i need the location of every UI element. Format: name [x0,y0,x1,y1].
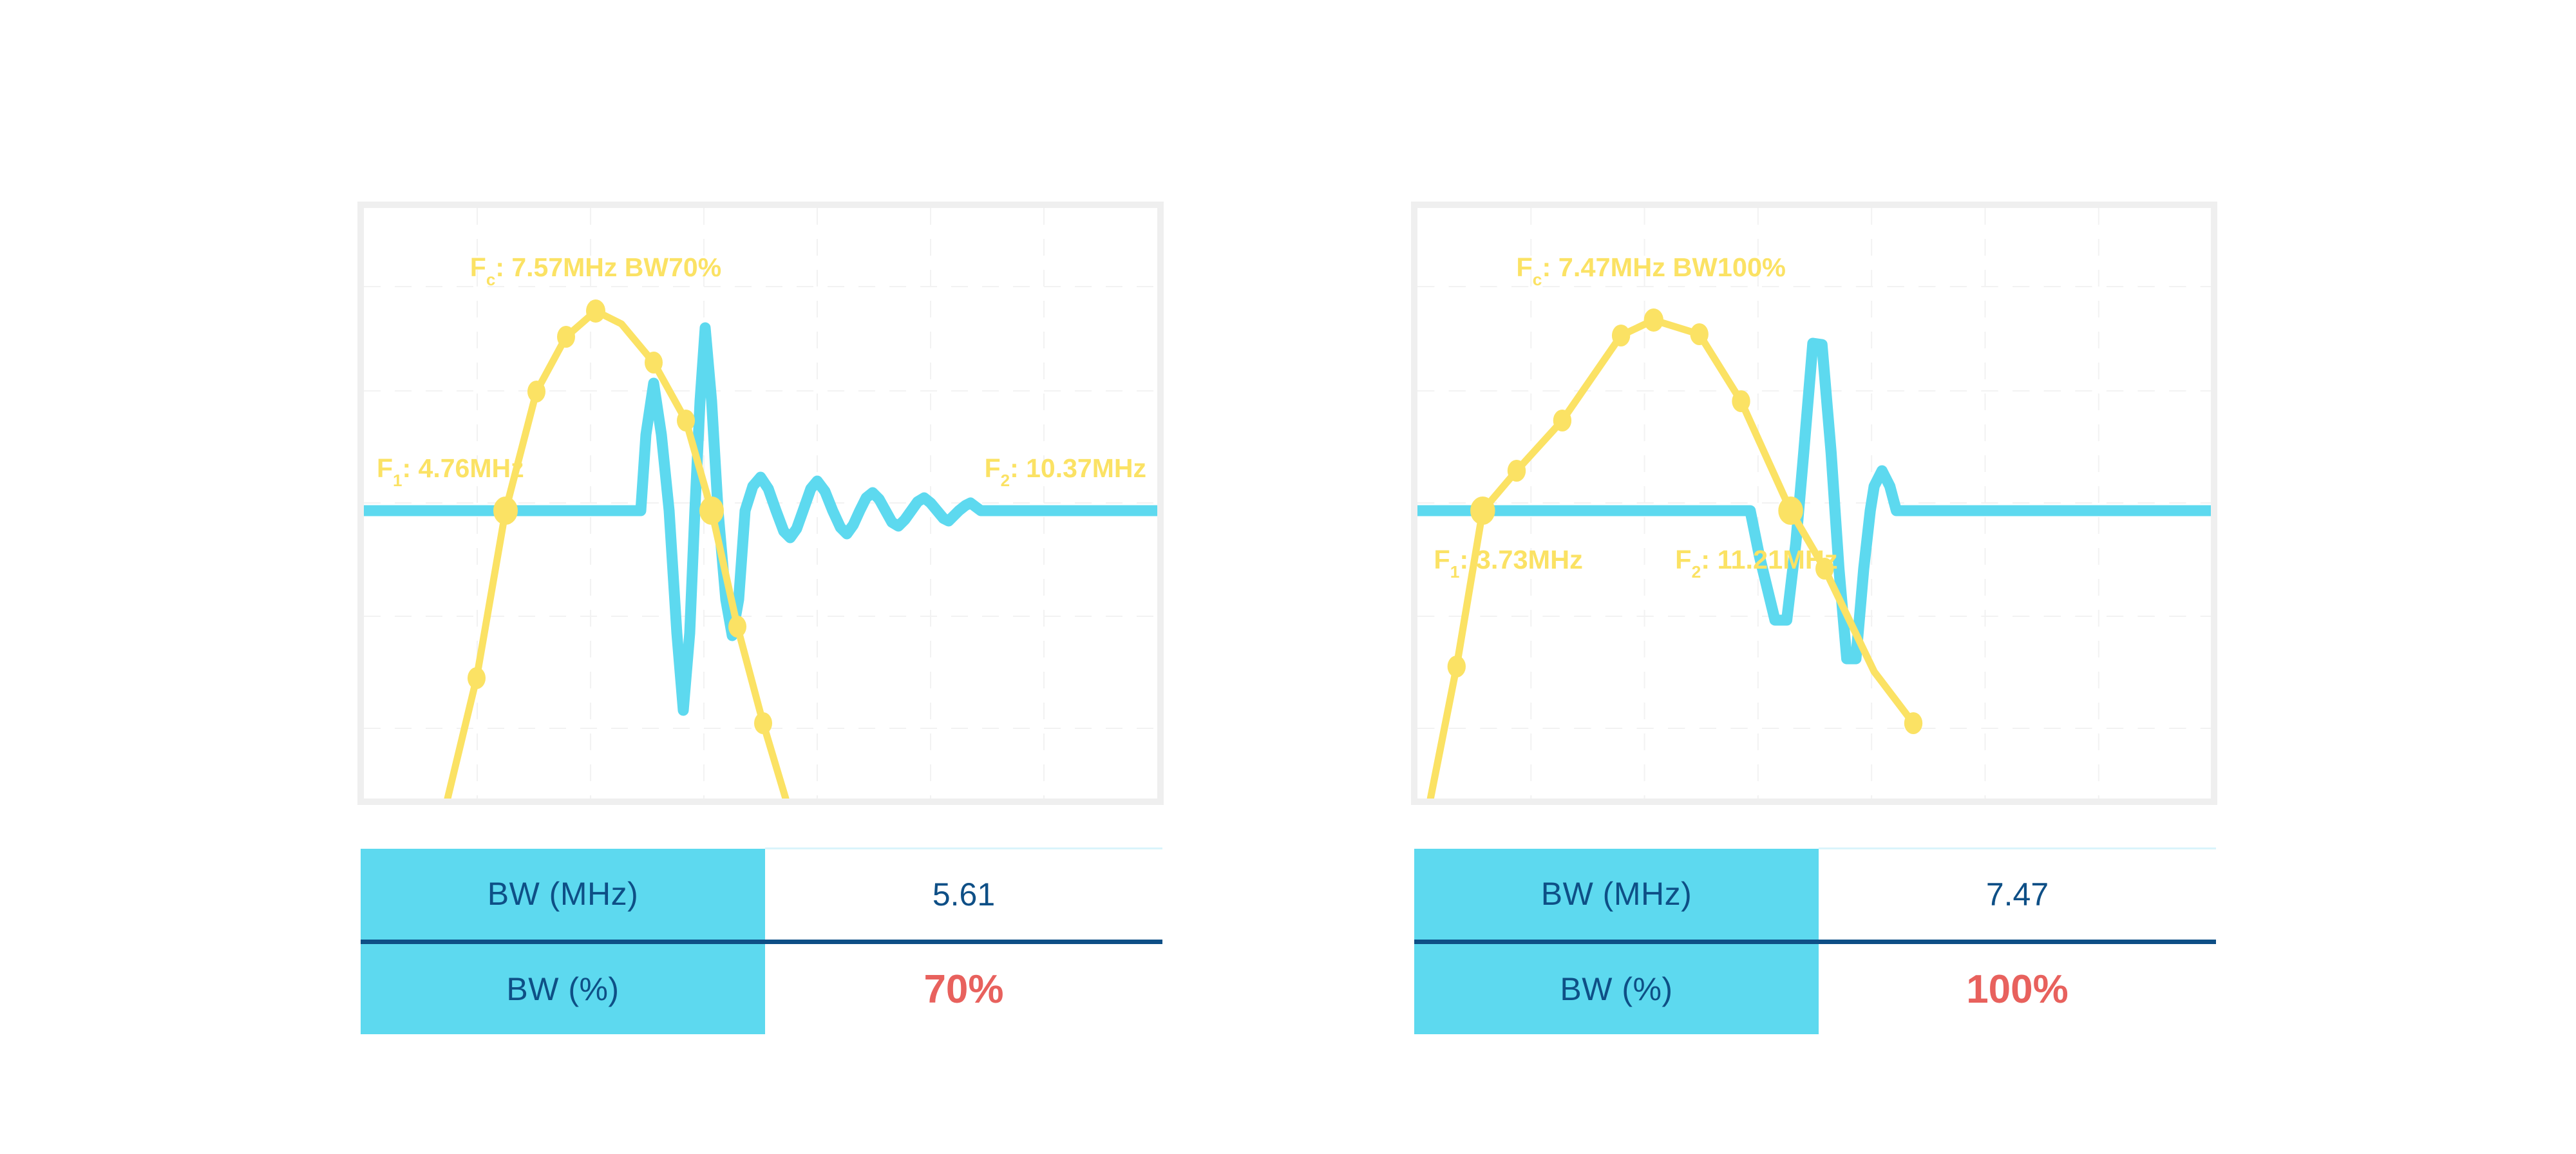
spectrum-markers-left [468,299,772,734]
bw-mhz-value: 7.47 [1819,849,2216,942]
bw-pct-value: 70% [765,942,1162,1035]
label-f2-left-sub: 2 [1001,471,1010,490]
label-fc-right-sub: c [1533,270,1542,289]
label-f1-right-rest: : 3.73MHz [1459,545,1583,574]
bw-mhz-value: 5.61 [765,849,1162,942]
label-f1-left-sub: 1 [393,471,402,490]
label-fc-left-rest: : 7.57MHz BW70% [495,252,721,282]
label-fc-right-rest: : 7.47MHz BW100% [1542,252,1786,282]
label-f2-left-f: F [985,453,1001,483]
bw-pct-value: 100% [1819,942,2216,1035]
label-f2-left-rest: : 10.37MHz [1010,453,1146,483]
label-f2-right: F2: 11.21MHz [1675,545,1837,582]
label-f2-right-sub: 2 [1692,562,1701,582]
bw-mhz-label: BW (MHz) [361,849,765,942]
bw-table-left: BW (MHz) 5.61 BW (%) 70% [361,847,1162,1034]
label-f2-right-f: F [1675,545,1691,574]
bw-table-right: BW (MHz) 7.47 BW (%) 100% [1414,847,2216,1034]
spectrum-chart-left: Fc: 7.57MHz BW70% F1: 4.76MHz F2: 10.37M… [364,208,1157,799]
label-f1-right: F1: 3.73MHz [1434,545,1583,582]
chart-labels-right: Fc: 7.47MHz BW100% F1: 3.73MHz F2: 11.21… [1434,252,1837,582]
chart-frame-right: Fc: 7.47MHz BW100% F1: 3.73MHz F2: 11.21… [1411,202,2217,805]
label-f2-left: F2: 10.37MHz [985,453,1146,490]
bw-pct-label: BW (%) [361,942,765,1035]
bw-mhz-label: BW (MHz) [1414,849,1819,942]
label-f2-right-rest: : 11.21MHz [1701,545,1837,574]
panel-bandwidth-100: Fc: 7.47MHz BW100% F1: 3.73MHz F2: 11.21… [1411,202,2217,805]
spectrum-curve-left [448,311,786,799]
page-root: Fc: 7.57MHz BW70% F1: 4.76MHz F2: 10.37M… [0,0,2576,1154]
spectrum-chart-right: Fc: 7.47MHz BW100% F1: 3.73MHz F2: 11.21… [1417,208,2211,799]
chart-frame-left: Fc: 7.57MHz BW70% F1: 4.76MHz F2: 10.37M… [357,202,1164,805]
label-f1-left-rest: : 4.76MHz [402,453,524,483]
bw-pct-label: BW (%) [1414,942,1819,1035]
label-fc-left-f: F [470,252,486,282]
label-f1-right-f: F [1434,545,1450,574]
label-fc-left-sub: c [486,270,495,289]
panel-bandwidth-70: Fc: 7.57MHz BW70% F1: 4.76MHz F2: 10.37M… [357,202,1164,805]
gridlines-right [1417,208,2211,799]
table-row: BW (%) 100% [1414,942,2216,1035]
label-f1-left: F1: 4.76MHz [377,453,524,490]
table-row: BW (MHz) 5.61 [361,849,1162,942]
label-f1-left-f: F [377,453,393,483]
label-f1-right-sub: 1 [1450,562,1460,582]
label-fc-right: Fc: 7.47MHz BW100% [1516,252,1786,289]
table-row: BW (MHz) 7.47 [1414,849,2216,942]
label-fc-left: Fc: 7.57MHz BW70% [470,252,721,289]
spectrum-markers-right [1448,308,1923,734]
table-row: BW (%) 70% [361,942,1162,1035]
chart-labels-left: Fc: 7.57MHz BW70% F1: 4.76MHz F2: 10.37M… [377,252,1146,490]
label-fc-right-f: F [1516,252,1532,282]
